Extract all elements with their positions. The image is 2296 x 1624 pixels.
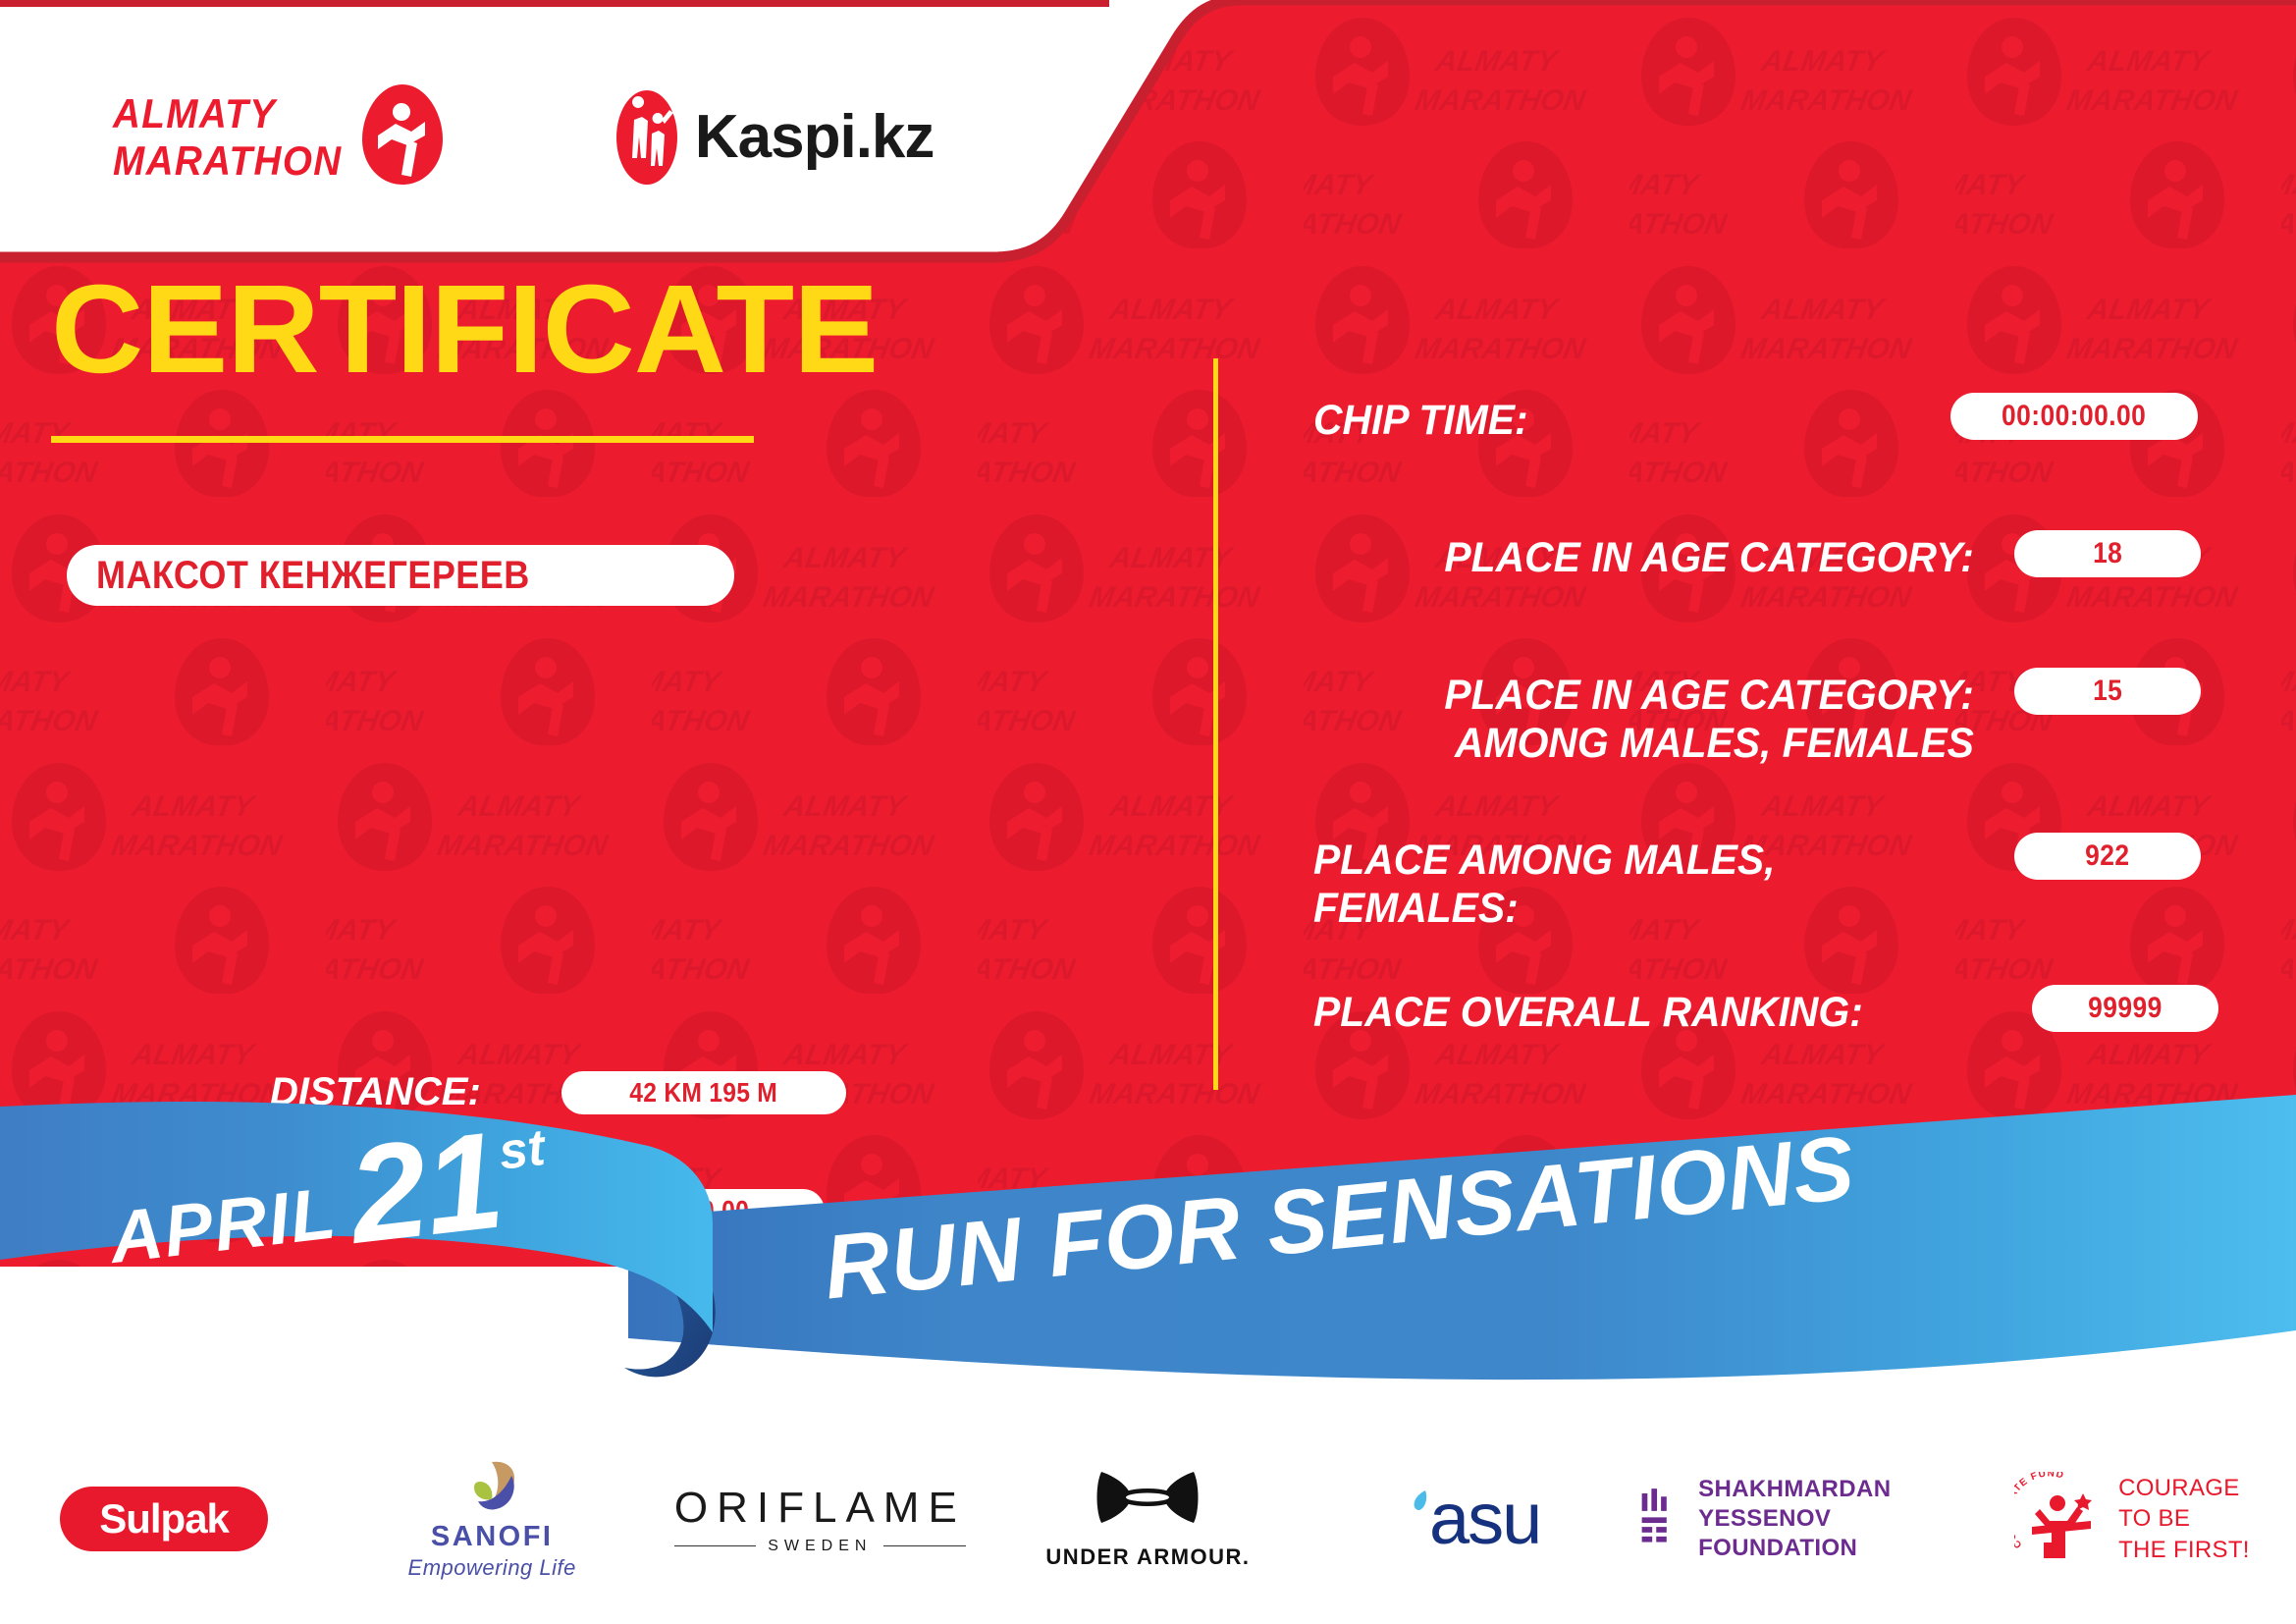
place-age-category-label: PLACE IN AGE CATEGORY:	[1445, 534, 1974, 582]
sanofi-logo: SANOFI Empowering Life	[408, 1458, 576, 1581]
under-armour-mark-icon	[1094, 1468, 1201, 1535]
place-among-males-females-value: 922	[2085, 839, 2129, 873]
yellow-vertical-divider	[1213, 358, 1218, 1090]
chip-time-value-pill[interactable]: 00:00:00.00	[1950, 393, 2198, 440]
place-age-category-value-pill[interactable]: 18	[2014, 530, 2201, 577]
asu-droplet-icon	[1412, 1489, 1429, 1518]
sponsor-oriflame: ORIFLAME SWEDEN	[656, 1440, 984, 1597]
title-underline	[51, 436, 754, 443]
sponsor-under-armour: UNDER ARMOUR.	[984, 1440, 1311, 1597]
sulpak-logo: Sulpak	[60, 1487, 268, 1551]
oriflame-rule-left	[674, 1545, 756, 1547]
place-overall-ranking-label: PLACE OVERALL RANKING:	[1313, 989, 1863, 1037]
courage-fund-wordmark: COURAGE TO BE THE FIRST!	[2118, 1473, 2250, 1565]
yessenov-foundation-logo: SHAKHMARDAN YESSENOV FOUNDATION	[1640, 1475, 1968, 1563]
oriflame-rule-right	[883, 1545, 965, 1547]
place-overall-ranking-value: 99999	[2088, 992, 2163, 1025]
event-day-suffix: st	[496, 1118, 548, 1182]
sponsor-sanofi: SANOFI Empowering Life	[328, 1440, 656, 1597]
page-title: CERTIFICATE	[51, 267, 878, 393]
marathon-line: MARATHON	[113, 137, 343, 184]
chip-time-label: CHIP TIME:	[1313, 397, 1528, 445]
sponsor-asu: asu	[1312, 1440, 1640, 1597]
oriflame-wordmark: ORIFLAME	[674, 1484, 966, 1533]
courage-fund-logo: CORPORATE FUND COURAGE TO BE THE FIRST!	[2014, 1472, 2250, 1566]
place-overall-ranking-value-pill[interactable]: 99999	[2032, 985, 2218, 1032]
place-among-males-females-label: PLACE AMONG MALES, FEMALES:	[1313, 837, 1776, 933]
sanofi-wordmark: SANOFI	[431, 1521, 554, 1553]
kaspi-wordmark: Kaspi.kz	[695, 102, 934, 172]
sanofi-mark-icon	[460, 1458, 523, 1519]
asu-logo: asu	[1412, 1483, 1540, 1555]
asu-wordmark: asu	[1429, 1483, 1540, 1555]
under-armour-wordmark: UNDER ARMOUR.	[1045, 1544, 1250, 1570]
oriflame-sub-row: SWEDEN	[674, 1538, 966, 1555]
place-age-category-value: 18	[2093, 537, 2122, 570]
oriflame-logo: ORIFLAME SWEDEN	[674, 1484, 966, 1555]
yessenov-bars-icon	[1640, 1482, 1677, 1556]
almaty-line: ALMATY	[113, 90, 276, 136]
sponsor-yessenov: SHAKHMARDAN YESSENOV FOUNDATION	[1640, 1440, 1968, 1597]
certificate-header: ALMATYMARATHON Kaspi.kz	[0, 7, 1139, 267]
runner-drop-icon	[360, 82, 445, 192]
place-age-category-among-value-pill[interactable]: 15	[2014, 668, 2201, 715]
under-armour-logo: UNDER ARMOUR.	[1045, 1468, 1250, 1570]
place-among-males-females-value-pill[interactable]: 922	[2014, 833, 2201, 880]
almaty-marathon-wordmark: ALMATYMARATHON	[113, 90, 343, 183]
courage-fund-mark-icon: CORPORATE FUND	[2014, 1472, 2109, 1566]
place-age-category-among-value: 15	[2093, 675, 2122, 708]
yessenov-wordmark: SHAKHMARDAN YESSENOV FOUNDATION	[1698, 1475, 1968, 1563]
kaspi-person-icon	[616, 90, 677, 185]
sponsor-sulpak: Sulpak	[0, 1440, 328, 1597]
event-month: APRIL	[105, 1170, 341, 1279]
event-day: 21	[344, 1116, 507, 1259]
participant-name-value: МАКСОТ КЕНЖЕГЕРЕЕВ	[96, 554, 530, 598]
oriflame-sub-text: SWEDEN	[768, 1538, 872, 1555]
sponsors-bar: Sulpak SANOFI Empowering Life ORIFLAME S…	[0, 1414, 2296, 1624]
participant-name-field[interactable]: МАКСОТ КЕНЖЕГЕРЕЕВ	[67, 545, 734, 606]
sponsor-courage-fund: CORPORATE FUND COURAGE TO BE THE FIRST!	[1968, 1440, 2296, 1597]
place-age-category-among-label: PLACE IN AGE CATEGORY: AMONG MALES, FEMA…	[1445, 672, 1974, 768]
sulpak-wordmark: Sulpak	[99, 1495, 229, 1543]
chip-time-value: 00:00:00.00	[2002, 400, 2146, 433]
certificate-page: ALMATY MARATHON ALMATY MARATHON	[0, 0, 2296, 1624]
sanofi-tagline: Empowering Life	[408, 1555, 576, 1581]
almaty-marathon-logo: ALMATYMARATHON	[113, 82, 445, 192]
kaspi-logo: Kaspi.kz	[616, 90, 934, 185]
